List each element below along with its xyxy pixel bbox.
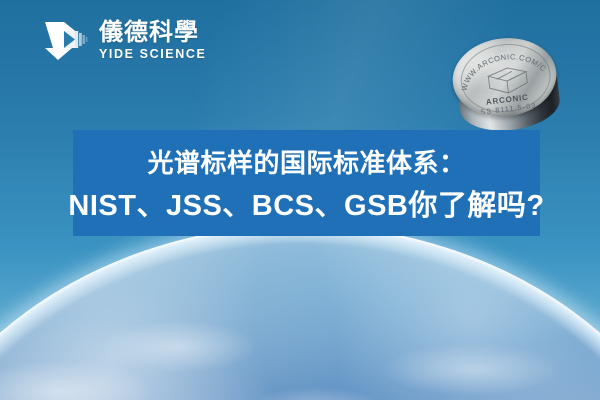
logo-english-name: YIDE SCIENCE bbox=[99, 48, 206, 61]
logo-chinese-name: 儀德科學 bbox=[99, 21, 206, 45]
logo-text-block: 儀德科學 YIDE SCIENCE bbox=[99, 21, 206, 61]
yide-arrow-ribbon-icon bbox=[42, 18, 90, 64]
article-cover-banner: 儀德科學 YIDE SCIENCE WWW.ARCONIC.COM/CRMS bbox=[0, 0, 600, 400]
earth-atmosphere-glow bbox=[0, 225, 600, 400]
brand-logo[interactable]: 儀德科學 YIDE SCIENCE bbox=[42, 18, 206, 64]
headline-band: 光谱标样的国际标准体系： NIST、JSS、BCS、GSB你了解吗? bbox=[73, 130, 540, 236]
headline-line-1: 光谱标样的国际标准体系： bbox=[147, 143, 465, 180]
headline-line-2: NIST、JSS、BCS、GSB你了解吗? bbox=[68, 182, 544, 224]
disc-top-face: WWW.ARCONIC.COM/CRMS ARCONIC SS 8111 5-0… bbox=[448, 32, 561, 122]
earth-globe-icon bbox=[0, 225, 600, 400]
